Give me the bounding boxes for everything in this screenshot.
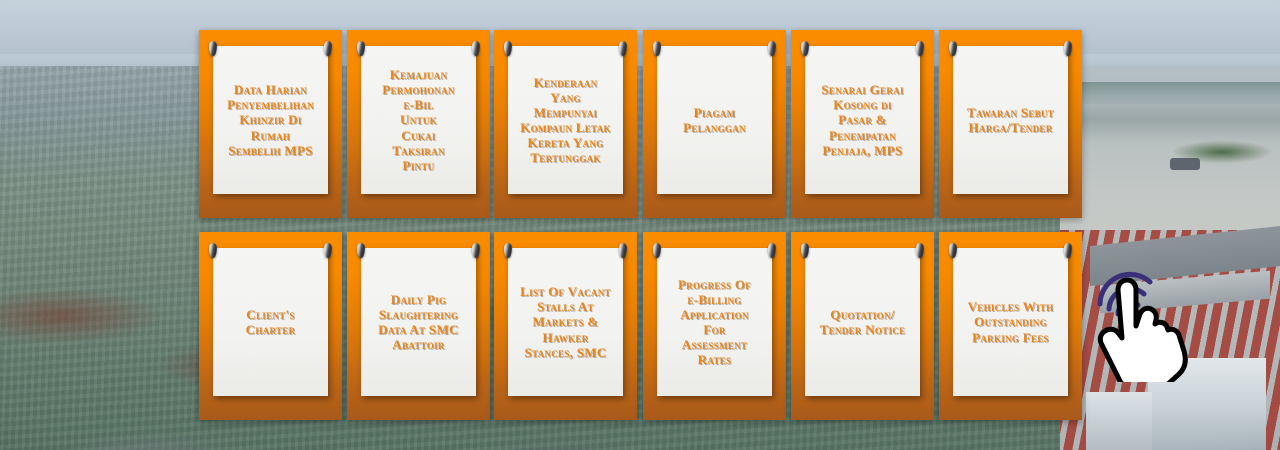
- pin-icon-left: [209, 243, 217, 258]
- card-title: Kemajuan Permohonan e-Bil Untuk Cukai Ta…: [382, 67, 454, 173]
- dataset-card-kenderaan-kompaun-letak-kereta-tertunggak[interactable]: Kenderaan Yang Mempunyai Kompaun Letak K…: [494, 30, 637, 218]
- dataset-card-grid: Data Harian Penyembelihan Khinzir Di Rum…: [0, 0, 1280, 450]
- dataset-card-progress-of-e-billing-application-assessment-rates[interactable]: Progress Of e-Billing Application For As…: [643, 232, 786, 420]
- card-title: Tawaran Sebut Harga/Tender: [967, 105, 1054, 135]
- page-stage: Data Harian Penyembelihan Khinzir Di Rum…: [0, 0, 1280, 450]
- pin-icon-left: [209, 41, 217, 56]
- pin-icon-left: [801, 243, 809, 258]
- dataset-card-list-of-vacant-stalls-markets-hawker-stances-smc[interactable]: List Of Vacant Stalls At Markets & Hawke…: [494, 232, 637, 420]
- card-title: Senarai Gerai Kosong di Pasar & Penempat…: [821, 82, 904, 157]
- pin-icon-left: [357, 243, 365, 258]
- card-title: List Of Vacant Stalls At Markets & Hawke…: [520, 284, 611, 359]
- card-paper[interactable]: Tawaran Sebut Harga/Tender: [953, 46, 1068, 194]
- pin-icon-right: [1064, 41, 1072, 56]
- pin-icon-left: [357, 41, 365, 56]
- card-paper[interactable]: Kenderaan Yang Mempunyai Kompaun Letak K…: [508, 46, 623, 194]
- card-paper[interactable]: Progress Of e-Billing Application For As…: [657, 248, 772, 396]
- card-title: Quotation/ Tender Notice: [820, 307, 906, 337]
- card-title: Piagam Pelanggan: [683, 105, 746, 135]
- card-title: Kenderaan Yang Mempunyai Kompaun Letak K…: [520, 75, 611, 165]
- card-title: Vehicles With Outstanding Parking Fees: [968, 299, 1054, 344]
- pin-icon-right: [324, 243, 332, 258]
- pin-icon-left: [504, 41, 512, 56]
- pin-icon-left: [504, 243, 512, 258]
- card-paper[interactable]: Data Harian Penyembelihan Khinzir Di Rum…: [213, 46, 328, 194]
- card-title: Data Harian Penyembelihan Khinzir Di Rum…: [227, 82, 314, 157]
- dataset-card-quotation-tender-notice[interactable]: Quotation/ Tender Notice: [791, 232, 934, 420]
- card-paper[interactable]: Kemajuan Permohonan e-Bil Untuk Cukai Ta…: [361, 46, 476, 194]
- pin-icon-right: [619, 41, 627, 56]
- card-title: Progress Of e-Billing Application For As…: [678, 277, 751, 367]
- pin-icon-right: [472, 243, 480, 258]
- dataset-card-clients-charter[interactable]: Client's Charter: [199, 232, 342, 420]
- pin-icon-right: [768, 243, 776, 258]
- pin-icon-left: [949, 41, 957, 56]
- dataset-card-piagam-pelanggan[interactable]: Piagam Pelanggan: [643, 30, 786, 218]
- pin-icon-left: [801, 41, 809, 56]
- pin-icon-left: [653, 243, 661, 258]
- card-title: Daily Pig Slaughtering Data At SMC Abatt…: [378, 292, 458, 352]
- pin-icon-right: [916, 41, 924, 56]
- pin-icon-right: [619, 243, 627, 258]
- pin-icon-right: [768, 41, 776, 56]
- dataset-card-daily-pig-slaughtering-data-smc-abattoir[interactable]: Daily Pig Slaughtering Data At SMC Abatt…: [347, 232, 490, 420]
- card-title: Client's Charter: [246, 307, 296, 337]
- pin-icon-right: [324, 41, 332, 56]
- card-paper[interactable]: List Of Vacant Stalls At Markets & Hawke…: [508, 248, 623, 396]
- card-paper[interactable]: Vehicles With Outstanding Parking Fees: [953, 248, 1068, 396]
- dataset-card-vehicles-with-outstanding-parking-fees[interactable]: Vehicles With Outstanding Parking Fees: [939, 232, 1082, 420]
- card-paper[interactable]: Senarai Gerai Kosong di Pasar & Penempat…: [805, 46, 920, 194]
- card-paper[interactable]: Piagam Pelanggan: [657, 46, 772, 194]
- card-paper[interactable]: Client's Charter: [213, 248, 328, 396]
- dataset-card-data-harian-penyembelihan-khinzir[interactable]: Data Harian Penyembelihan Khinzir Di Rum…: [199, 30, 342, 218]
- card-paper[interactable]: Daily Pig Slaughtering Data At SMC Abatt…: [361, 248, 476, 396]
- pin-icon-right: [916, 243, 924, 258]
- dataset-card-kemajuan-permohonan-e-bil-cukai-taksiran-pintu[interactable]: Kemajuan Permohonan e-Bil Untuk Cukai Ta…: [347, 30, 490, 218]
- pin-icon-right: [472, 41, 480, 56]
- dataset-card-senarai-gerai-kosong-pasar-penempatan-penjaja-mps[interactable]: Senarai Gerai Kosong di Pasar & Penempat…: [791, 30, 934, 218]
- card-paper[interactable]: Quotation/ Tender Notice: [805, 248, 920, 396]
- dataset-card-tawaran-sebut-harga-tender[interactable]: Tawaran Sebut Harga/Tender: [939, 30, 1082, 218]
- pin-icon-right: [1064, 243, 1072, 258]
- pin-icon-left: [653, 41, 661, 56]
- pin-icon-left: [949, 243, 957, 258]
